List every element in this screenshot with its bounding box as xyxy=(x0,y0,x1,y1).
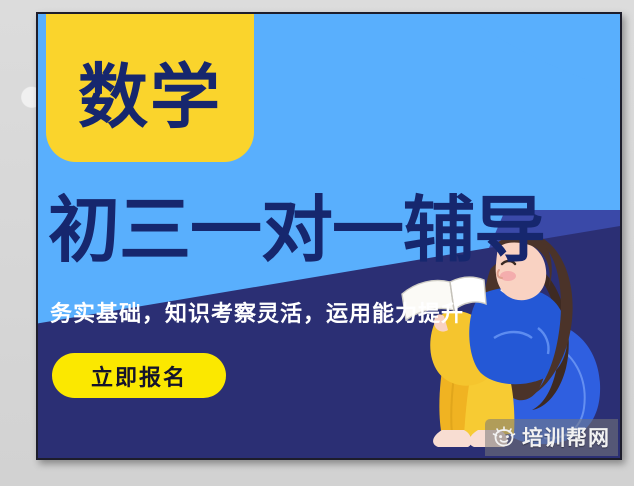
smiling-sun-icon xyxy=(492,426,516,448)
watermark: 培训帮网 xyxy=(485,419,618,456)
subject-badge: 数学 xyxy=(46,12,254,162)
subject-badge-label: 数学 xyxy=(78,62,222,162)
foot-left xyxy=(433,430,471,447)
cheek-blush xyxy=(500,271,516,281)
page-title: 初三一对一辅导 xyxy=(48,194,622,266)
page-backdrop: 数学 初三一对一辅导 务实基础，知识考察灵活，运用能力提升 立即报名 xyxy=(0,0,634,486)
subtitle-text: 务实基础，知识考察灵活，运用能力提升 xyxy=(50,302,464,328)
enroll-now-button[interactable]: 立即报名 xyxy=(52,353,226,398)
promo-banner: 数学 初三一对一辅导 务实基础，知识考察灵活，运用能力提升 立即报名 xyxy=(36,12,622,460)
watermark-label: 培训帮网 xyxy=(522,422,610,452)
